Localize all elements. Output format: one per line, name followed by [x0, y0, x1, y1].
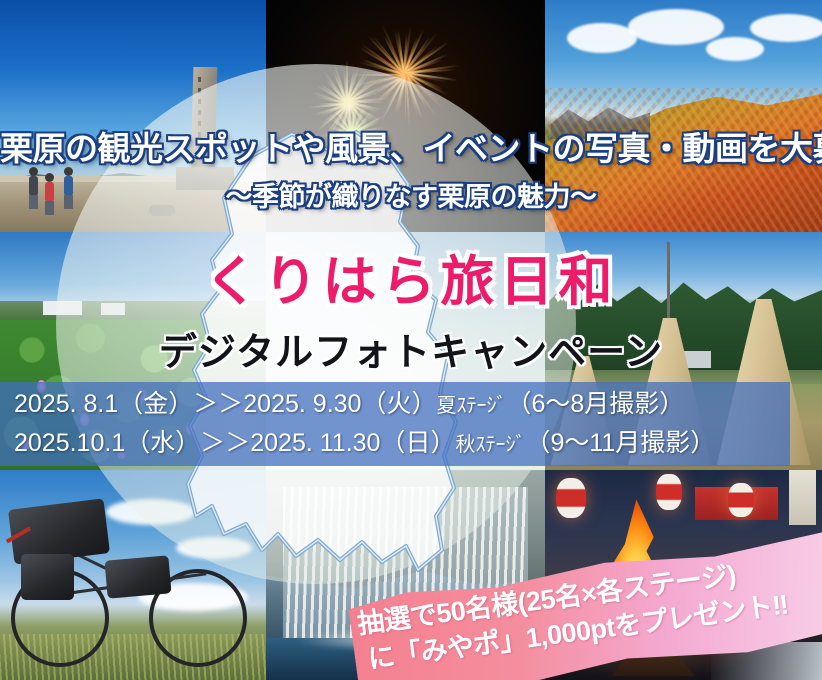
paper-lantern — [556, 478, 586, 518]
headline-line-2: 〜季節が織りなす栗原の魅力〜 — [0, 175, 822, 214]
campaign-title: くりはら旅日和 — [0, 255, 822, 309]
autumn-arrow: ＞＞ — [200, 429, 250, 457]
summer-arrow: ＞＞ — [193, 390, 243, 418]
pannier-bag — [105, 555, 172, 598]
pannier-bag — [21, 554, 74, 600]
paper-lantern — [656, 474, 682, 510]
campaign-poster: 栗原の観光スポットや風景、イベントの写真・動画を大募集！ 〜季節が織りなす栗原の… — [0, 0, 822, 680]
date-row-summer: 2025. 8.1（金）＞＞2025. 9.30（火）夏ｽﾃｰｼﾞ（6〜8月撮影… — [14, 385, 790, 424]
campaign-subtitle: デジタルフォトキャンペーン — [0, 321, 822, 376]
summer-end: 2025. 9.30（火） — [243, 390, 436, 418]
cloud — [106, 499, 196, 525]
headline-block: 栗原の観光スポットや風景、イベントの写真・動画を大募集！ 〜季節が織りなす栗原の… — [0, 132, 822, 214]
cloud — [750, 14, 822, 42]
date-row-autumn: 2025.10.1（水）＞＞2025. 11.30（日）秋ｽﾃｰｼﾞ（9〜11月… — [14, 424, 790, 463]
summer-start: 2025. 8.1（金） — [14, 390, 193, 418]
cloud — [567, 23, 637, 53]
cloud — [706, 37, 764, 61]
touring-bicycle-photo — [0, 470, 266, 680]
autumn-start: 2025.10.1（水） — [14, 429, 200, 457]
date-banner: 2025. 8.1（金）＞＞2025. 9.30（火）夏ｽﾃｰｼﾞ（6〜8月撮影… — [0, 382, 790, 466]
autumn-end: 2025. 11.30（日） — [250, 429, 455, 457]
summer-stage-label: 夏ｽﾃｰｼﾞ — [436, 395, 506, 417]
cloud — [176, 537, 252, 559]
paper-lantern — [728, 483, 754, 517]
autumn-note: （9〜11月撮影） — [525, 429, 715, 457]
festival-banner — [789, 470, 817, 525]
title-block: くりはら旅日和 デジタルフォトキャンペーン — [0, 255, 822, 376]
cloud — [628, 9, 724, 45]
summer-note: （6〜8月撮影） — [506, 390, 684, 418]
autumn-stage-label: 秋ｽﾃｰｼﾞ — [455, 434, 525, 456]
headline-line-1: 栗原の観光スポットや風景、イベントの写真・動画を大募集！ — [0, 132, 822, 167]
